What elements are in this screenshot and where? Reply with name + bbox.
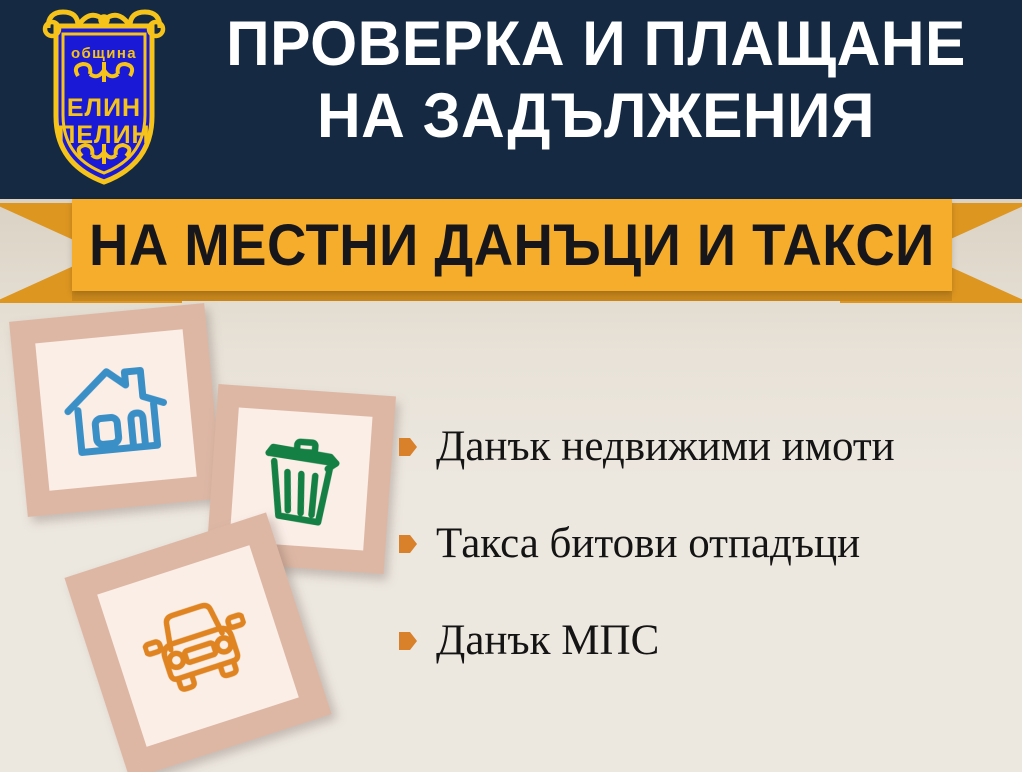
house-icon [60, 356, 173, 464]
subtitle-ribbon: НА МЕСТНИ ДАНЪЦИ И ТАКСИ [0, 199, 1022, 311]
header-title-group: ПРОВЕРКА И ПЛАЩАНЕ НА ЗАДЪЛЖЕНИЯ [190, 14, 1002, 147]
ribbon-band: НА МЕСТНИ ДАНЪЦИ И ТАКСИ [72, 199, 952, 291]
arrow-bullet-icon [398, 630, 418, 652]
poster-canvas: община ЕЛИН ПЕЛИН [0, 0, 1022, 772]
tax-type-list: Данък недвижими имоти Такса битови отпад… [398, 424, 1010, 715]
list-item-label: Данък МПС [436, 618, 659, 663]
coat-of-arms-shield-icon: община ЕЛИН ПЕЛИН [30, 4, 178, 192]
arrow-bullet-icon [398, 436, 418, 458]
list-item-label: Данък недвижими имоти [436, 424, 895, 469]
list-item[interactable]: Такса битови отпадъци [398, 521, 1010, 566]
list-item[interactable]: Данък недвижими имоти [398, 424, 1010, 469]
stamp-house [9, 303, 223, 517]
page-title-line-2: НА ЗАДЪЛЖЕНИЯ [206, 86, 986, 148]
trash-bin-icon [256, 430, 346, 528]
arrow-bullet-icon [398, 533, 418, 555]
crest-municipality-word: община [71, 45, 137, 62]
crest-name-line1: ЕЛИН [67, 94, 141, 122]
ribbon-text: НА МЕСТНИ ДАНЪЦИ И ТАКСИ [89, 212, 935, 279]
list-item[interactable]: Данък МПС [398, 618, 1010, 663]
car-front-icon [134, 589, 261, 704]
list-item-label: Такса битови отпадъци [436, 521, 860, 566]
page-title-line-1: ПРОВЕРКА И ПЛАЩАНЕ [206, 14, 986, 76]
municipality-crest: община ЕЛИН ПЕЛИН [30, 4, 178, 192]
stamp-house-icon-wrap [9, 303, 223, 517]
header-bar: община ЕЛИН ПЕЛИН [0, 0, 1022, 199]
